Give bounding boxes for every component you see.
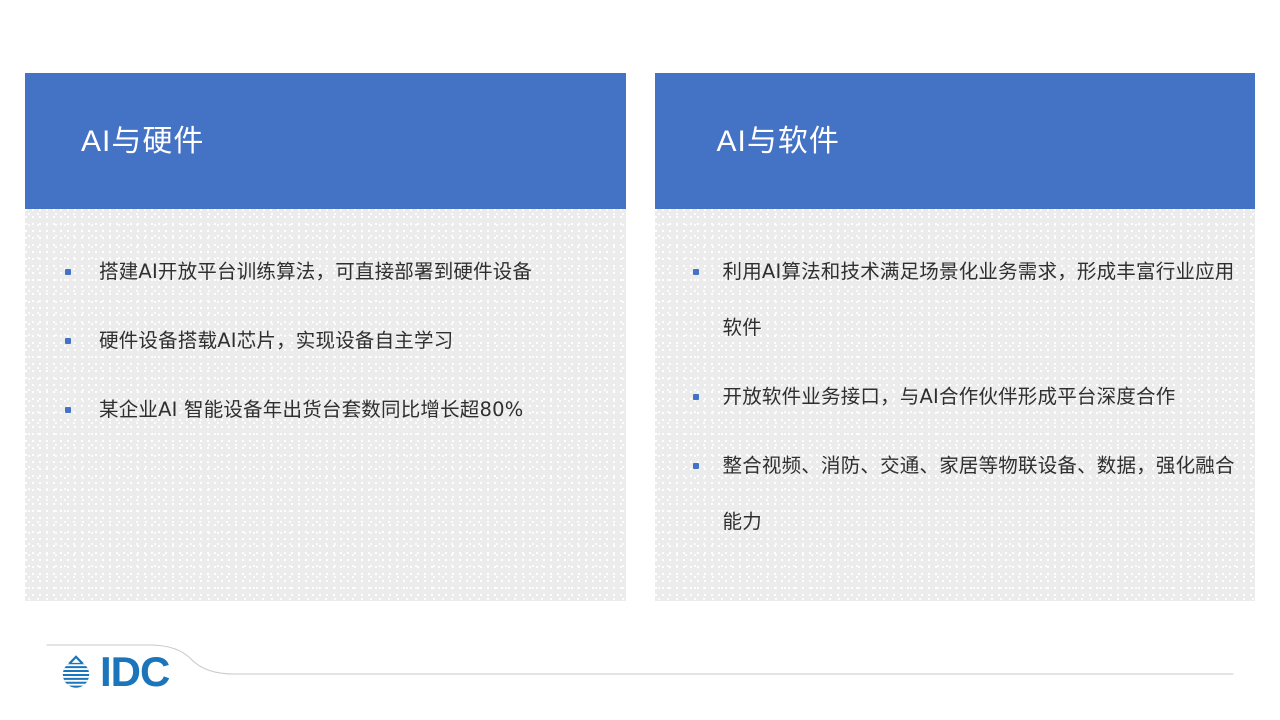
card-group: AI与硬件 搭建AI开放平台训练算法，可直接部署到硬件设备 硬件设备搭载AI芯片… xyxy=(25,73,1255,601)
footer: IDC xyxy=(0,630,1280,720)
bullet-list-left: 搭建AI开放平台训练算法，可直接部署到硬件设备 硬件设备搭载AI芯片，实现设备自… xyxy=(55,244,596,438)
card-title-left: AI与硬件 xyxy=(81,125,204,158)
card-ai-hardware: AI与硬件 搭建AI开放平台训练算法，可直接部署到硬件设备 硬件设备搭载AI芯片… xyxy=(25,73,626,601)
list-item: 整合视频、消防、交通、家居等物联设备、数据，强化融合能力 xyxy=(683,438,1242,550)
card-title-right: AI与软件 xyxy=(717,125,840,158)
list-item: 搭建AI开放平台训练算法，可直接部署到硬件设备 xyxy=(55,244,596,300)
list-item: 开放软件业务接口，与AI合作伙伴形成平台深度合作 xyxy=(683,369,1242,425)
list-item: 硬件设备搭载AI芯片，实现设备自主学习 xyxy=(55,313,596,369)
card-body-left: 搭建AI开放平台训练算法，可直接部署到硬件设备 硬件设备搭载AI芯片，实现设备自… xyxy=(25,209,626,601)
idc-logo: IDC xyxy=(56,651,169,693)
slide: AI与硬件 搭建AI开放平台训练算法，可直接部署到硬件设备 硬件设备搭载AI芯片… xyxy=(0,0,1280,720)
list-item: 某企业AI 智能设备年出货台套数同比增长超80% xyxy=(55,382,596,438)
logo-wordmark: IDC xyxy=(100,651,169,693)
card-body-right: 利用AI算法和技术满足场景化业务需求，形成丰富行业应用软件 开放软件业务接口，与… xyxy=(655,209,1256,601)
card-header-right: AI与软件 xyxy=(655,73,1256,209)
footer-divider-line xyxy=(0,630,1280,720)
bullet-list-right: 利用AI算法和技术满足场景化业务需求，形成丰富行业应用软件 开放软件业务接口，与… xyxy=(683,244,1242,550)
card-header-left: AI与硬件 xyxy=(25,73,626,209)
list-item: 利用AI算法和技术满足场景化业务需求，形成丰富行业应用软件 xyxy=(683,244,1242,356)
card-ai-software: AI与软件 利用AI算法和技术满足场景化业务需求，形成丰富行业应用软件 开放软件… xyxy=(655,73,1256,601)
globe-icon xyxy=(56,652,96,692)
